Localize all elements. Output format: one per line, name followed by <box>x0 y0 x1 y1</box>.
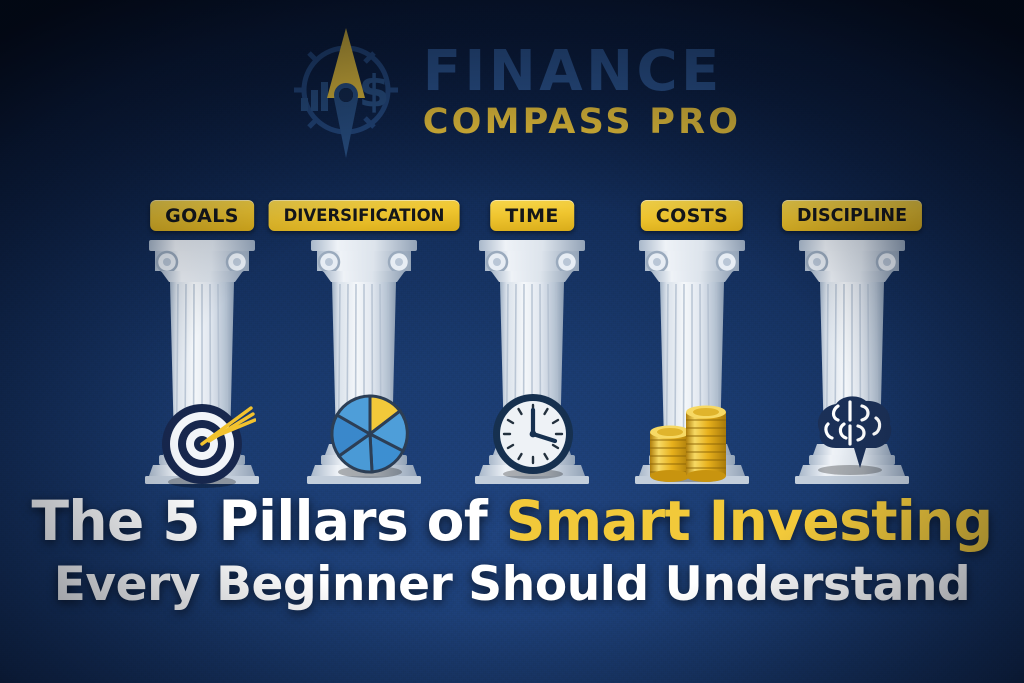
pillar-costs: COSTS <box>612 196 772 486</box>
headline-line-2: Every Beginner Should Understand <box>0 560 1024 610</box>
pillar-label-text: GOALS <box>165 205 239 227</box>
brain-icon <box>798 380 902 476</box>
svg-text:$: $ <box>358 66 389 117</box>
headline-line-1: The 5 Pillars of Smart Investing <box>0 492 1024 550</box>
coin-stacks-icon <box>636 386 740 482</box>
brand-wordmark: FINANCE COMPASS PRO <box>423 39 741 142</box>
pie-chart-icon <box>318 384 422 480</box>
pillar-label-text: DIVERSIFICATION <box>284 206 445 225</box>
pillar-label-badge-discipline: DISCIPLINE <box>782 200 922 231</box>
brand-name-top: FINANCE <box>423 43 741 100</box>
compass-chart-dollar-icon: $ <box>283 20 409 160</box>
pillar-goals: GOALS <box>122 196 282 486</box>
pillar-label-badge-diversification: DIVERSIFICATION <box>269 200 460 231</box>
pillar-discipline: DISCIPLINE <box>772 196 932 486</box>
brand-name-bottom: COMPASS PRO <box>423 103 741 142</box>
pillar-label-badge-goals: GOALS <box>150 200 254 231</box>
headline-block: The 5 Pillars of Smart Investing Every B… <box>0 492 1024 610</box>
pillar-label-text: COSTS <box>656 205 728 227</box>
pillars-row: GOALS <box>0 196 1024 486</box>
pillar-label-text: TIME <box>505 205 559 227</box>
brand-logo: $ FINANCE COMPASS PRO <box>0 20 1024 160</box>
infographic-canvas: $ FINANCE COMPASS PRO GOALS <box>0 0 1024 683</box>
pillar-label-text: DISCIPLINE <box>797 206 907 226</box>
pillar-time: TIME <box>452 196 612 486</box>
target-with-arrows-icon <box>152 392 256 488</box>
pillar-label-badge-time: TIME <box>490 200 574 231</box>
pillar-label-badge-costs: COSTS <box>641 200 743 231</box>
headline-accent-part: Smart Investing <box>506 489 993 553</box>
headline-white-part: The 5 Pillars of <box>32 489 506 553</box>
pillar-diversification: DIVERSIFICATION <box>284 196 444 486</box>
clock-icon <box>481 384 585 480</box>
